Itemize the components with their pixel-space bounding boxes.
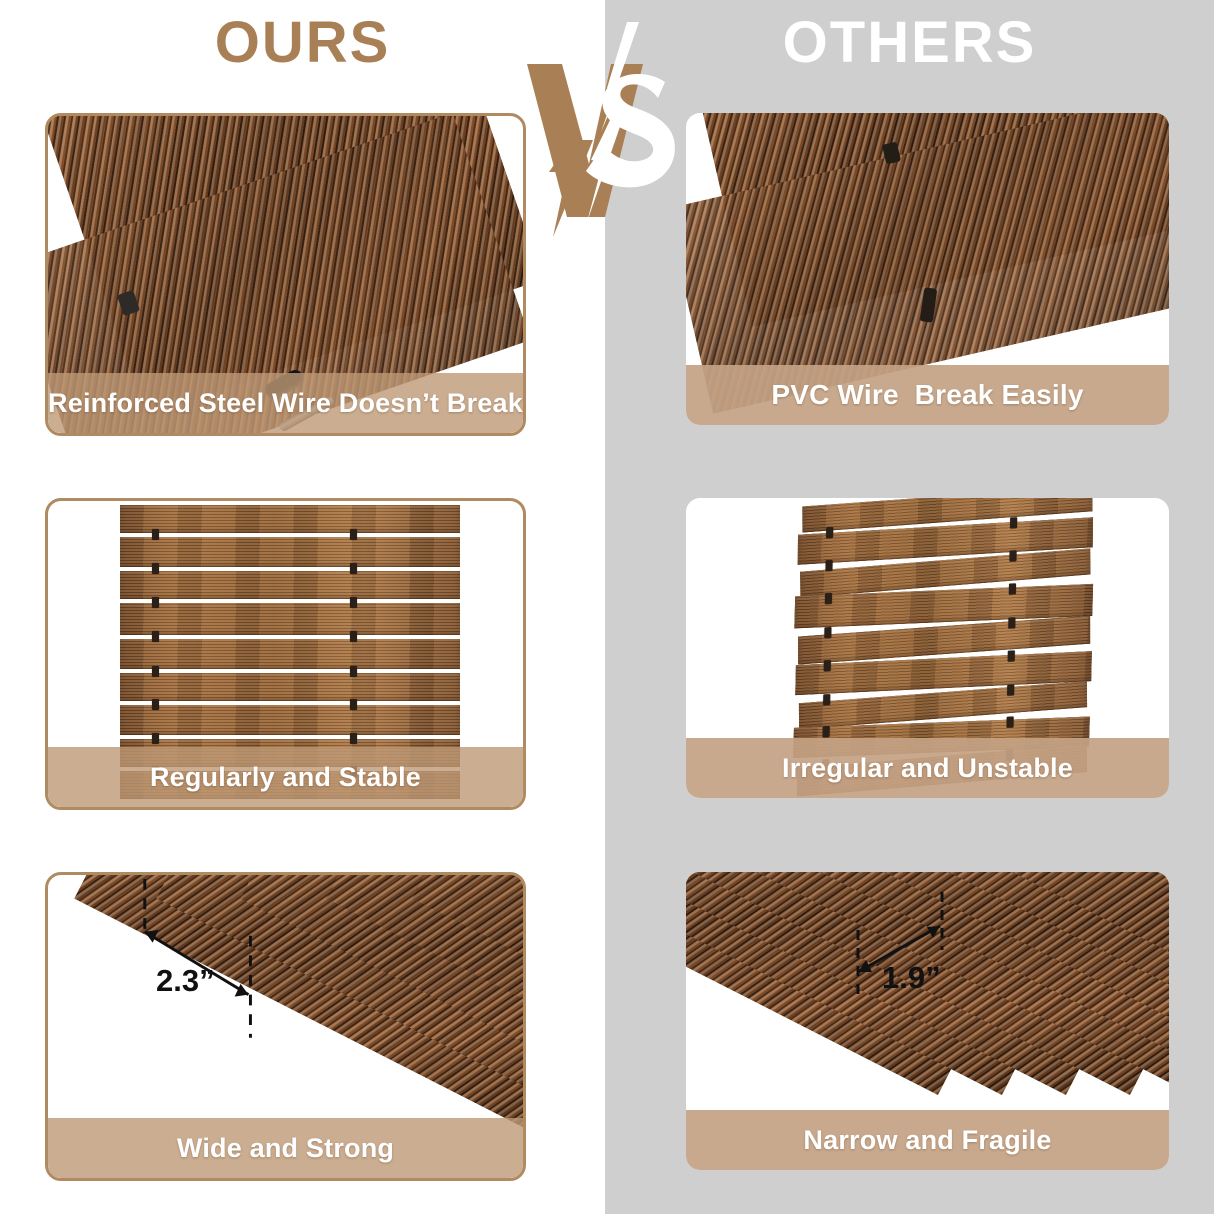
others-card-stability: Irregular and Unstable bbox=[686, 498, 1169, 798]
others-heading: OTHERS bbox=[605, 14, 1214, 72]
ours-width-caption: Wide and Strong bbox=[48, 1118, 523, 1178]
ours-card-stability: Regularly and Stable bbox=[45, 498, 526, 810]
ours-card-wire: Reinforced Steel Wire Doesn’t Break bbox=[45, 113, 526, 436]
ours-heading: OURS bbox=[0, 14, 605, 72]
others-wire-caption: PVC Wire Break Easily bbox=[686, 365, 1169, 425]
others-stability-caption: Irregular and Unstable bbox=[686, 738, 1169, 798]
ours-width-value: 2.3” bbox=[156, 963, 215, 999]
ours-card-width: 2.3” Wide and Strong bbox=[45, 872, 526, 1181]
others-card-wire: PVC Wire Break Easily bbox=[686, 113, 1169, 425]
others-card-width: 1.9” Narrow and Fragile bbox=[686, 872, 1169, 1170]
ours-stability-caption: Regularly and Stable bbox=[48, 747, 523, 807]
others-width-caption: Narrow and Fragile bbox=[686, 1110, 1169, 1170]
comparison-infographic: OURS OTHERS Reinforced Steel Wire Does bbox=[0, 0, 1214, 1214]
ours-wire-caption: Reinforced Steel Wire Doesn’t Break bbox=[48, 373, 523, 433]
